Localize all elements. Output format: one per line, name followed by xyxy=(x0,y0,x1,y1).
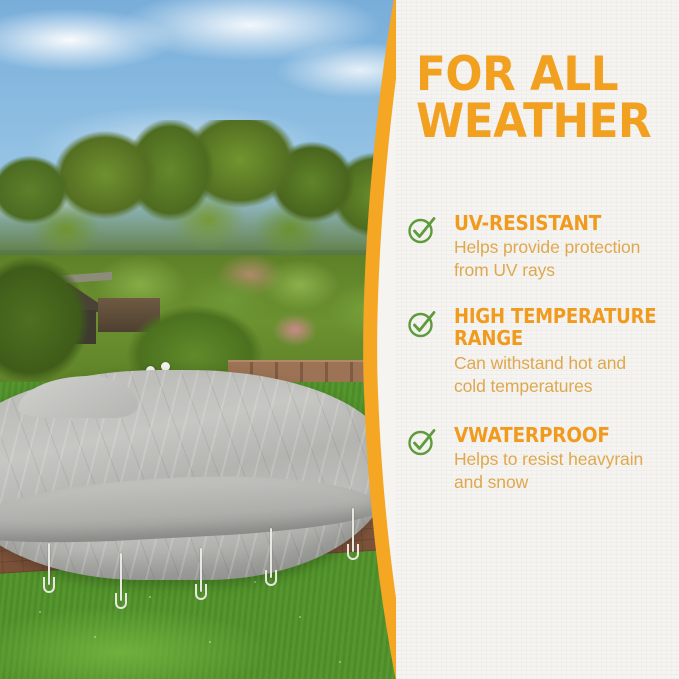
promo-infographic: FOR ALL WEATHER UV-RESISTANT Helps provi… xyxy=(0,0,679,679)
product-photo xyxy=(0,0,400,679)
check-circle-icon xyxy=(406,214,438,246)
check-circle-icon xyxy=(406,426,438,458)
check-circle-icon xyxy=(406,308,438,340)
feature-body: Helps provide protection from UV rays xyxy=(454,236,679,282)
tie-down-rope xyxy=(48,543,50,585)
tie-down-rope xyxy=(270,528,272,578)
tie-down-rope xyxy=(200,548,202,592)
feature-body: Helps to resist heavyrain and snow xyxy=(454,448,679,494)
flowering-shrub xyxy=(255,300,335,360)
bush-left xyxy=(0,250,100,390)
feature-body: Can withstand hot and cold temperatures xyxy=(454,352,679,398)
feature-heading: VWATERPROOF xyxy=(454,424,657,446)
tie-down-rope xyxy=(352,508,354,552)
feature-item-uv-resistant: UV-RESISTANT Helps provide protection fr… xyxy=(402,212,679,282)
page-title: FOR ALL WEATHER xyxy=(416,52,660,145)
title-line-1: FOR ALL xyxy=(416,52,660,99)
feature-heading: HIGH TEMPERATURE RANGE xyxy=(454,306,657,349)
feature-list: UV-RESISTANT Helps provide protection fr… xyxy=(402,212,679,508)
feature-panel: FOR ALL WEATHER UV-RESISTANT Helps provi… xyxy=(396,0,679,679)
feature-heading: UV-RESISTANT xyxy=(454,212,657,234)
tie-down-rope xyxy=(120,553,122,601)
feature-item-high-temperature-range: HIGH TEMPERATURE RANGE Can withstand hot… xyxy=(402,306,679,397)
title-line-2: WEATHER xyxy=(416,99,660,146)
feature-item-waterproof: VWATERPROOF Helps to resist heavyrain an… xyxy=(402,424,679,494)
